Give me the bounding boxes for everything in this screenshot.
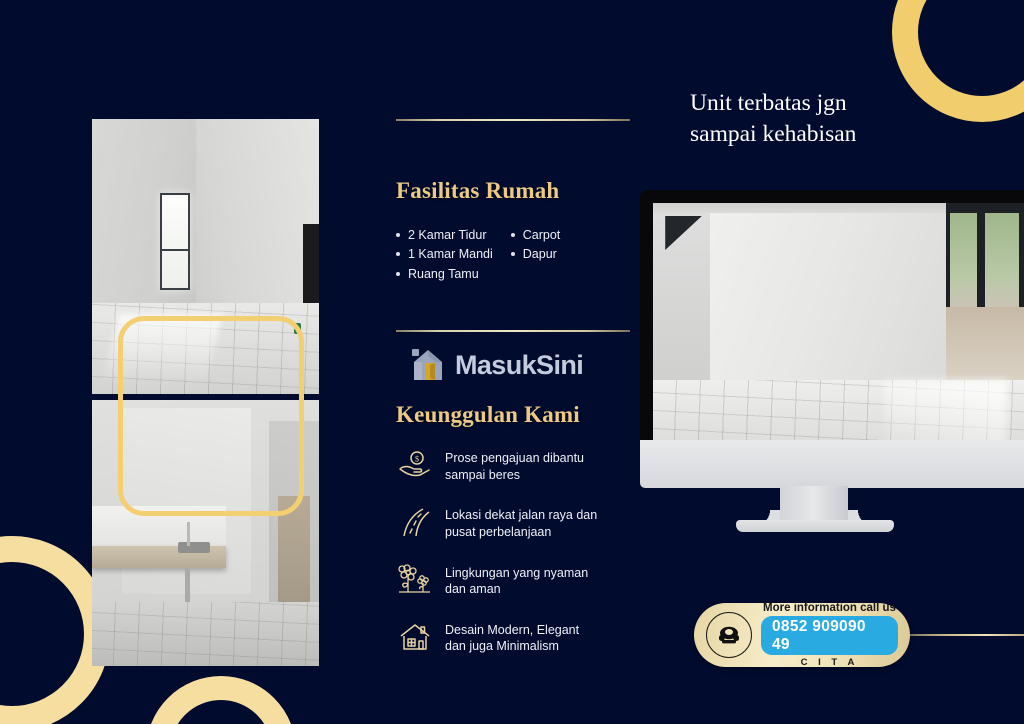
list-item: Dapur (511, 247, 561, 262)
monitor-stand-base (736, 520, 894, 532)
list-item: 1 Kamar Mandi (396, 247, 493, 262)
advantage-text: Desain Modern, Elegant dan juga Minimali… (445, 620, 579, 655)
details-column: Fasilitas Rumah 2 Kamar Tidur 1 Kamar Ma… (396, 0, 636, 724)
sink-detail (178, 542, 210, 553)
advantages-list: $ Prose pengajuan dibantu sampai beres L… (398, 448, 636, 655)
monitor-chin (640, 440, 1024, 488)
living-room-photo (653, 203, 1024, 464)
brand-name: MasukSini (455, 350, 583, 381)
flowers-icon (398, 563, 432, 597)
advantages-title: Keunggulan Kami (396, 402, 580, 428)
headline-line-1: Unit terbatas jgn (690, 88, 990, 119)
masuksini-logo: MasukSini (408, 345, 583, 385)
bullet-dot-icon (396, 272, 400, 276)
list-item: $ Prose pengajuan dibantu sampai beres (398, 448, 636, 483)
facility-label: 2 Kamar Tidur (408, 228, 487, 243)
contact-badge[interactable]: More information call us 0852 909090 49 … (694, 603, 910, 667)
gold-ring-bottom-decoration (146, 676, 296, 724)
monitor-mockup (640, 190, 1024, 480)
window-detail (160, 193, 190, 289)
list-item: Desain Modern, Elegant dan juga Minimali… (398, 620, 636, 655)
gold-frame-decoration (118, 316, 304, 516)
advantage-text: Lingkungan yang nyaman dan aman (445, 563, 588, 598)
hand-holding-coin-icon: $ (398, 448, 432, 482)
list-item: 2 Kamar Tidur (396, 228, 493, 243)
headline-line-2: sampai kehabisan (690, 119, 990, 150)
advantage-text: Prose pengajuan dibantu sampai beres (445, 448, 584, 483)
facilities-column-left: 2 Kamar Tidur 1 Kamar Mandi Ruang Tamu (396, 228, 493, 282)
svg-text:$: $ (415, 455, 419, 464)
house-icon (398, 620, 432, 654)
house-icon (408, 345, 448, 385)
divider-top (396, 119, 630, 121)
bullet-dot-icon (396, 233, 400, 237)
advantage-text: Lokasi dekat jalan raya dan pusat perbel… (445, 505, 597, 540)
bullet-dot-icon (511, 233, 515, 237)
bullet-dot-icon (511, 252, 515, 256)
road-icon (398, 505, 432, 539)
facilities-title: Fasilitas Rumah (396, 178, 559, 204)
list-item: Ruang Tamu (396, 267, 493, 282)
facility-label: Ruang Tamu (408, 267, 479, 282)
bullet-dot-icon (396, 252, 400, 256)
contact-label: More information call us (763, 602, 896, 614)
facilities-column-right: Carpot Dapur (511, 228, 561, 282)
facility-label: 1 Kamar Mandi (408, 247, 493, 262)
flyer-canvas: Fasilitas Rumah 2 Kamar Tidur 1 Kamar Ma… (0, 0, 1024, 724)
list-item: Carpot (511, 228, 561, 243)
list-item: Lingkungan yang nyaman dan aman (398, 563, 636, 598)
contact-accent-line (900, 634, 1024, 636)
telephone-icon (706, 612, 752, 658)
facility-label: Carpot (523, 228, 561, 243)
list-item: Lokasi dekat jalan raya dan pusat perbel… (398, 505, 636, 540)
agent-name: C I T A (801, 657, 859, 668)
divider-middle (396, 330, 630, 332)
facilities-list: 2 Kamar Tidur 1 Kamar Mandi Ruang Tamu C… (396, 228, 636, 282)
facility-label: Dapur (523, 247, 557, 262)
page-title: Unit terbatas jgn sampai kehabisan (690, 88, 990, 151)
phone-number[interactable]: 0852 909090 49 (761, 616, 898, 655)
